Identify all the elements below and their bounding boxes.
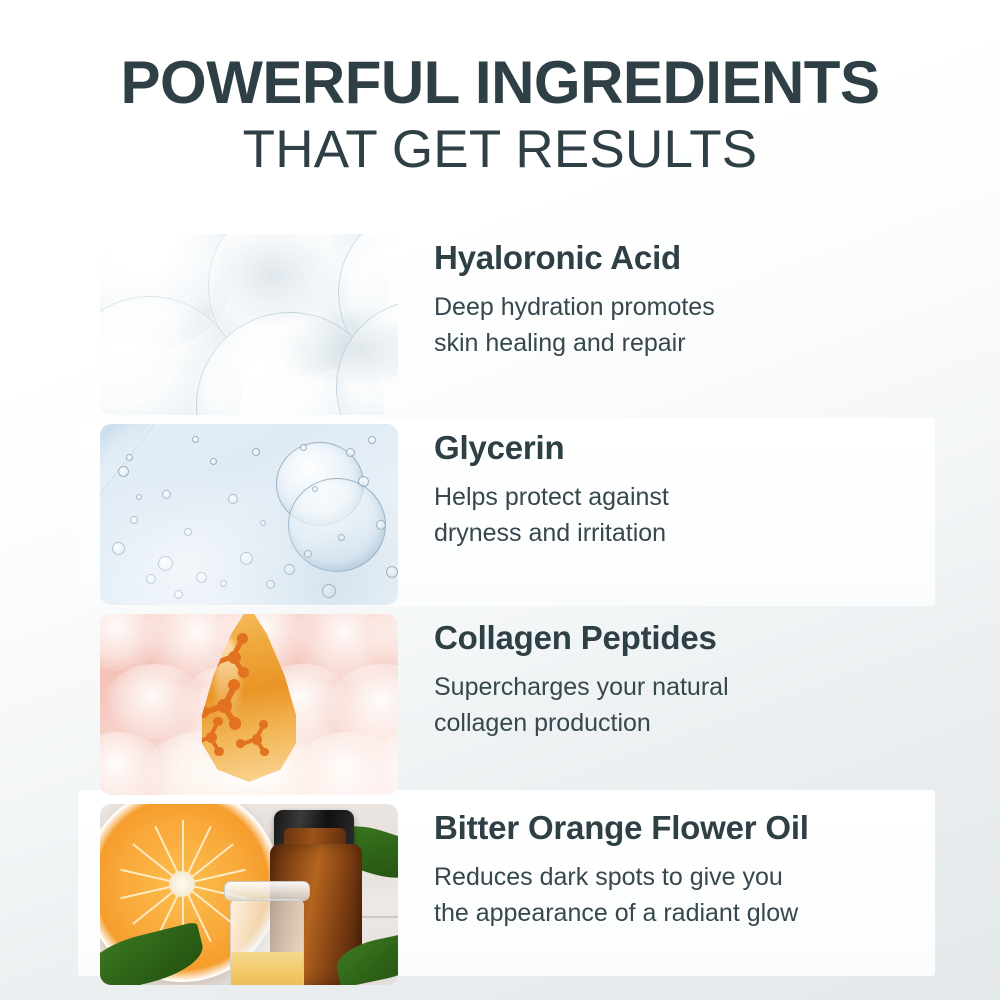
ingredient-description-line-2: dryness and irritation xyxy=(434,516,894,552)
ingredient-description-line-1: Helps protect against xyxy=(434,480,894,516)
ingredient-description-line-1: Reduces dark spots to give you xyxy=(434,860,894,896)
ingredients-infographic: POWERFUL INGREDIENTS THAT GET RESULTS Hy… xyxy=(0,0,1000,1000)
collagen-peptide-droplet-photo xyxy=(100,614,398,795)
headline-primary: POWERFUL INGREDIENTS xyxy=(0,52,1000,114)
ingredient-copy: Hyaloronic Acid Deep hydration promotes … xyxy=(434,234,1000,361)
ingredient-description-line-2: skin healing and repair xyxy=(434,326,894,362)
ingredient-description-line-2: the appearance of a radiant glow xyxy=(434,896,894,932)
ingredient-row-collagen-peptides: Collagen Peptides Supercharges your natu… xyxy=(0,614,1000,800)
hyaluronic-acid-bubbles-photo xyxy=(100,234,398,415)
glycerin-pipette-gel-photo xyxy=(100,424,398,605)
ingredient-description: Supercharges your natural collagen produ… xyxy=(434,670,894,741)
ingredient-description: Reduces dark spots to give you the appea… xyxy=(434,860,894,931)
headline-secondary: THAT GET RESULTS xyxy=(0,120,1000,179)
ingredient-row-glycerin: Glycerin Helps protect against dryness a… xyxy=(0,424,1000,610)
ingredient-title: Hyaloronic Acid xyxy=(434,240,1000,276)
bitter-orange-flower-oil-photo xyxy=(100,804,398,985)
ingredient-row-hyaloronic-acid: Hyaloronic Acid Deep hydration promotes … xyxy=(0,234,1000,420)
ingredient-description-line-1: Deep hydration promotes xyxy=(434,290,894,326)
ingredient-row-bitter-orange-flower-oil: Bitter Orange Flower Oil Reduces dark sp… xyxy=(0,804,1000,990)
oil-vial-icon xyxy=(230,899,304,985)
ingredient-list: Hyaloronic Acid Deep hydration promotes … xyxy=(0,234,1000,994)
ingredient-title: Collagen Peptides xyxy=(434,620,1000,656)
ingredient-copy: Collagen Peptides Supercharges your natu… xyxy=(434,614,1000,741)
page-heading: POWERFUL INGREDIENTS THAT GET RESULTS xyxy=(0,52,1000,180)
ingredient-description: Helps protect against dryness and irrita… xyxy=(434,480,894,551)
ingredient-description-line-1: Supercharges your natural xyxy=(434,670,894,706)
ingredient-copy: Bitter Orange Flower Oil Reduces dark sp… xyxy=(434,804,1000,931)
ingredient-description: Deep hydration promotes skin healing and… xyxy=(434,290,894,361)
ingredient-copy: Glycerin Helps protect against dryness a… xyxy=(434,424,1000,551)
ingredient-title: Bitter Orange Flower Oil xyxy=(434,810,1000,846)
ingredient-title: Glycerin xyxy=(434,430,1000,466)
ingredient-description-line-2: collagen production xyxy=(434,706,894,742)
